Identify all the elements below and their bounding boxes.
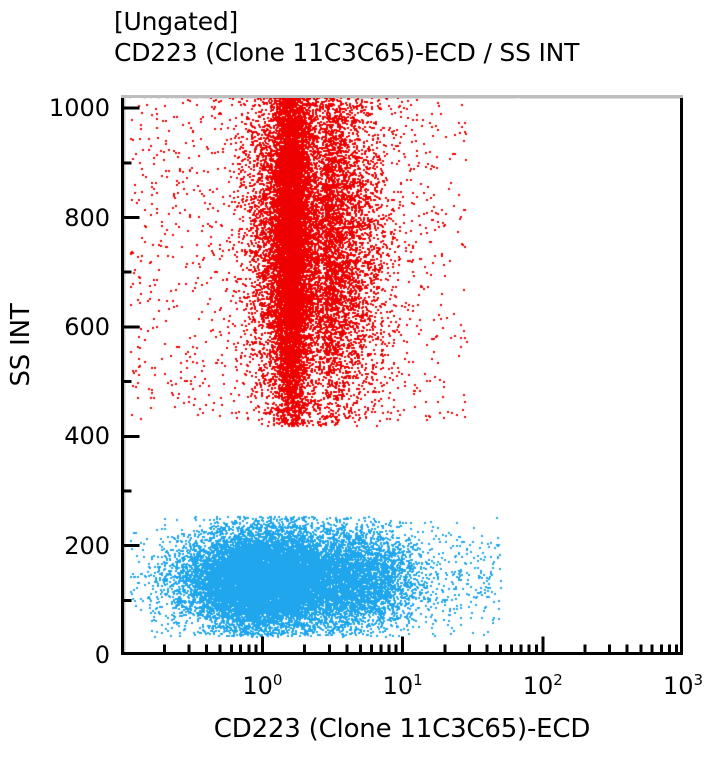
gate-label: [Ungated] — [114, 6, 709, 37]
y-tick-label: 0 — [0, 641, 110, 669]
x-tick-label: 102 — [523, 672, 563, 700]
y-tick-label: 1000 — [0, 94, 110, 122]
dotplot-figure: [Ungated] CD223 (Clone 11C3C65)-ECD / SS… — [0, 0, 709, 761]
x-tick-label: 103 — [663, 672, 703, 700]
plot-area[interactable] — [121, 95, 683, 655]
x-tick-label: 100 — [242, 672, 282, 700]
plot-header: [Ungated] CD223 (Clone 11C3C65)-ECD / SS… — [114, 6, 709, 68]
y-tick-label: 200 — [0, 532, 110, 560]
y-axis-title: SS INT — [6, 255, 36, 435]
x-tick-label: 101 — [383, 672, 423, 700]
scatter-plot-canvas[interactable] — [121, 95, 683, 655]
x-axis-title: CD223 (Clone 11C3C65)-ECD — [121, 714, 683, 744]
plot-title: CD223 (Clone 11C3C65)-ECD / SS INT — [114, 37, 709, 68]
y-tick-label: 800 — [0, 204, 110, 232]
